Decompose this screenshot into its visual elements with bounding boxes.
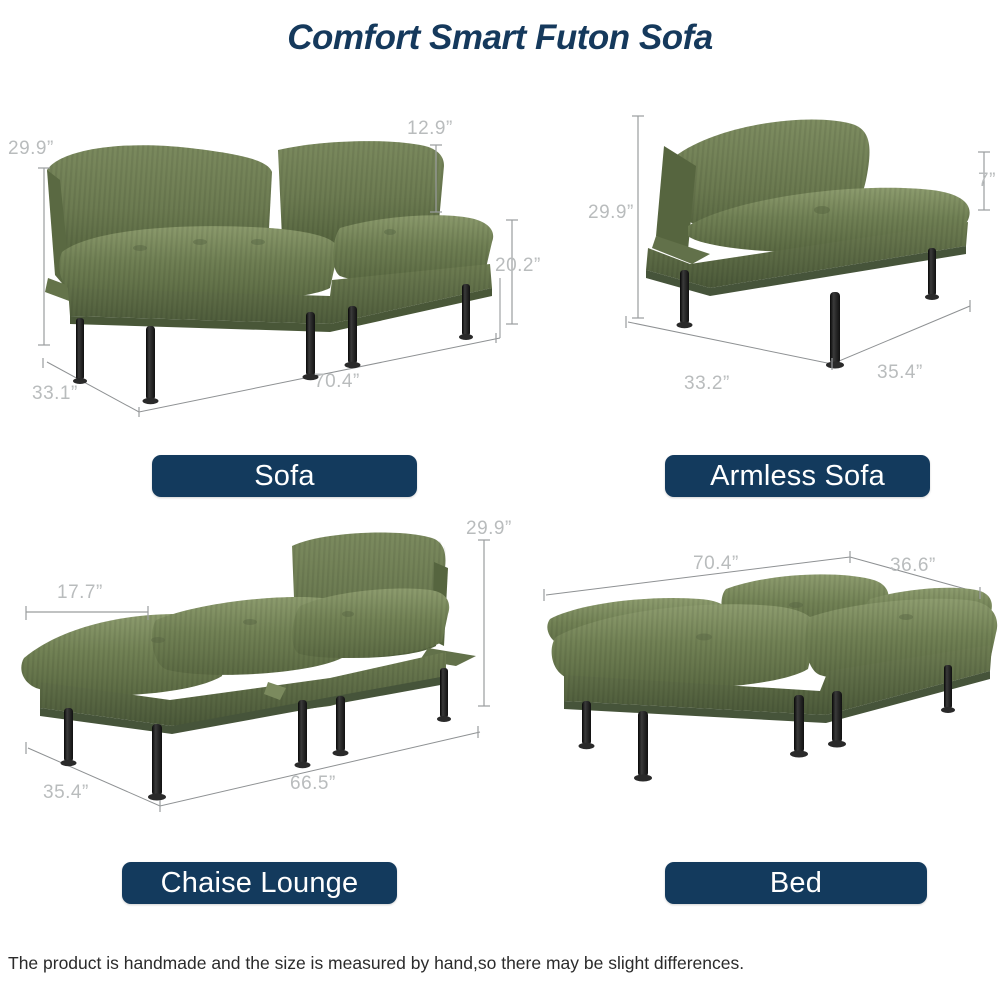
label-badge-bed: Bed [665, 862, 927, 904]
panel-bed: 70.4” 36.6” [520, 545, 1000, 845]
label-badge-sofa: Sofa [152, 455, 417, 497]
dim-sofa-seat-height: 20.2” [495, 255, 541, 277]
dim-chaise-length: 66.5” [290, 773, 336, 795]
product-infographic: Comfort Smart Futon Sofa [0, 0, 1000, 1000]
armless-tufting [814, 206, 830, 214]
panel-armless-sofa: 29.9” 7” 33.2” 35.4” [560, 110, 1000, 430]
dim-bed-length: 70.4” [693, 553, 739, 575]
dim-sofa-overall-height: 29.9” [8, 138, 54, 160]
dim-chaise-cushion-width: 17.7” [57, 582, 103, 604]
dim-bed-width: 36.6” [890, 555, 936, 577]
dim-sofa-width: 70.4” [314, 371, 360, 393]
page-title: Comfort Smart Futon Sofa [0, 18, 1000, 58]
dim-armless-overall-height: 29.9” [588, 202, 634, 224]
dim-sofa-depth: 33.1” [32, 383, 78, 405]
panel-chaise-lounge: 17.7” 29.9” 35.4” 66.5” [0, 510, 520, 840]
label-badge-chaise-lounge: Chaise Lounge [122, 862, 397, 904]
dimension-floor-lines-armless [628, 306, 970, 364]
footer-disclaimer: The product is handmade and the size is … [8, 953, 992, 974]
dim-sofa-backrest-height: 12.9” [407, 118, 453, 140]
label-badge-armless-sofa: Armless Sofa [665, 455, 930, 497]
dim-armless-depth: 33.2” [684, 373, 730, 395]
dim-armless-width: 35.4” [877, 362, 923, 384]
dim-chaise-depth: 35.4” [43, 782, 89, 804]
panel-sofa: 29.9” 12.9” 20.2” 33.1” 70.4” [0, 100, 520, 440]
dim-chaise-overall-height: 29.9” [466, 518, 512, 540]
dimension-floor-lines-chaise [28, 732, 480, 806]
armless-sofa-illustration [560, 110, 1000, 430]
dim-armless-cushion-height: 7” [978, 170, 996, 192]
bed-illustration [520, 545, 1000, 845]
sofa-illustration [0, 100, 520, 440]
